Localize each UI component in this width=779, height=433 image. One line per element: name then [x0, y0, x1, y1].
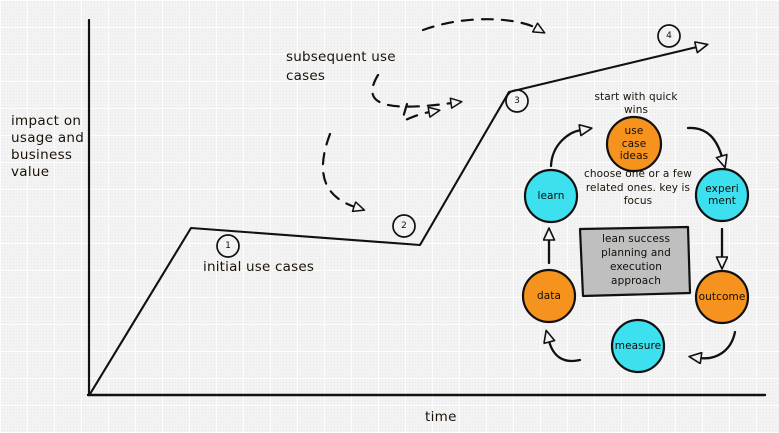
- node-learn: [525, 170, 577, 222]
- arrow-learn-to-ideas: [551, 130, 581, 166]
- node-outcome: [696, 271, 748, 323]
- node-data: [523, 270, 575, 322]
- node-experiment: [696, 169, 748, 221]
- subsequent-line-2: cases: [286, 67, 426, 86]
- node-use-case-ideas: [607, 117, 661, 171]
- arrow-outcome-to-measure: [700, 332, 735, 358]
- node-measure: [612, 320, 664, 372]
- start-with-quick-wins-note: start with quick wins: [588, 91, 684, 117]
- x-axis-label: time: [425, 409, 457, 425]
- subsequent-use-cases-label: subsequent use cases: [286, 48, 426, 86]
- center-box-label: lean success planning and execution appr…: [586, 232, 686, 288]
- initial-use-cases-label: initial use cases: [203, 259, 314, 275]
- y-axis-label: impact on usage and business value: [11, 113, 103, 181]
- arrow-ideas-to-experiment: [688, 128, 722, 157]
- choose-one-note: choose one or a few related ones. key is…: [578, 168, 698, 209]
- subsequent-line-1: subsequent use: [286, 48, 426, 67]
- arrow-measure-to-data: [549, 341, 580, 361]
